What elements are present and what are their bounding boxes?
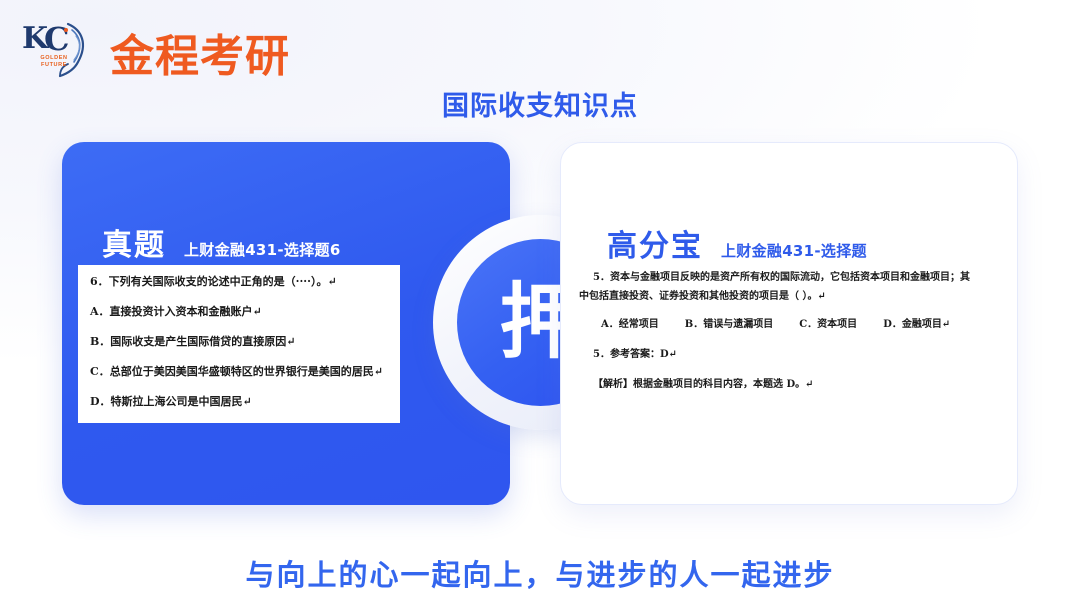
real-exam-card-header: 真题 上财金融431-选择题6 <box>102 220 341 264</box>
high-score-card-header: 高分宝 上财金融431-选择题 <box>607 221 867 265</box>
answer-explanation: 【解析】根据金融项目的科目内容，本题选 D。↵ <box>579 375 1003 394</box>
page-title: 国际收支知识点 <box>0 84 1080 123</box>
question-option-c: C．总部位于美因美国华盛顿特区的世界银行是美国的居民↵ <box>90 365 388 379</box>
answer-option-b: B．错误与遗漏项目 <box>685 315 773 334</box>
question-option-b: B．国际收支是产生国际借贷的直接原因↵ <box>90 335 388 349</box>
high-score-heading: 高分宝 <box>607 221 703 265</box>
brand-subtitle: GOLDEN FUTURE <box>30 55 78 69</box>
brand-subtitle-line1: GOLDEN <box>30 55 78 62</box>
high-score-tag: 上财金融431-选择题 <box>721 240 867 261</box>
answer-option-d: D．金融项目↵ <box>883 315 950 334</box>
question-option-a: A．直接投资计入资本和金融账户↵ <box>90 305 388 319</box>
answer-stem-line1: 5．资本与金融项目反映的是资产所有权的国际流动，它包括资本项目和金融项目；其 <box>579 268 1003 287</box>
kc-monogram-icon: K C <box>16 14 108 82</box>
high-score-answer-block: 5．资本与金融项目反映的是资产所有权的国际流动，它包括资本项目和金融项目；其 中… <box>579 268 1003 394</box>
high-score-card: 高分宝 上财金融431-选择题 5．资本与金融项目反映的是资产所有权的国际流动，… <box>560 142 1018 505</box>
brand-logo: K C GOLDEN FUTURE 金程考研 <box>14 12 274 84</box>
answer-stem-line2: 中包括直接投资、证券投资和其他投资的项目是（ ）。↵ <box>579 287 1003 306</box>
brand-subtitle-line2: FUTURE <box>30 62 78 69</box>
answer-option-a: A．经常项目 <box>601 315 659 334</box>
answer-reference: 5．参考答案：D↵ <box>579 345 1003 364</box>
answer-option-c: C．资本项目 <box>799 315 857 334</box>
real-exam-question-paper: 6．下列有关国际收支的论述中正角的是（····）。↵ A．直接投资计入资本和金融… <box>78 265 400 423</box>
brand-wordmark: 金程考研 <box>110 20 290 84</box>
question-stem: 6．下列有关国际收支的论述中正角的是（····）。↵ <box>90 275 388 289</box>
svg-text:C: C <box>44 20 69 58</box>
real-exam-heading: 真题 <box>102 220 166 264</box>
question-option-d: D．特斯拉上海公司是中国居民↵ <box>90 395 388 409</box>
footer-tagline: 与向上的心一起向上，与进步的人一起进步 <box>0 552 1080 594</box>
real-exam-tag: 上财金融431-选择题6 <box>184 239 341 260</box>
answer-options-row: A．经常项目 B．错误与遗漏项目 C．资本项目 D．金融项目↵ <box>579 315 1003 334</box>
slide-canvas: K C GOLDEN FUTURE 金程考研 国际收支知识点 真题 上财金融43… <box>0 0 1080 608</box>
